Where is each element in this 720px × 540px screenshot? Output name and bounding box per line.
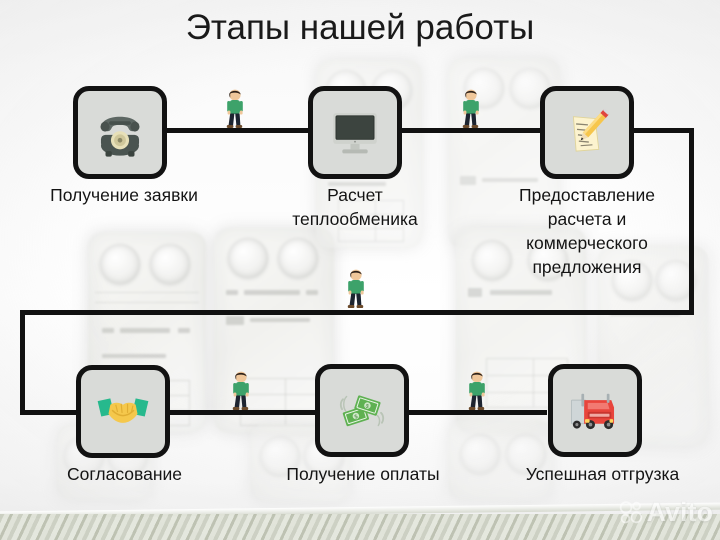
avito-watermark: Avito [619, 499, 714, 526]
stage-label-6: Успешная отгрузка [495, 462, 710, 486]
walking-person-icon [222, 88, 248, 130]
walking-person-icon [228, 370, 254, 412]
truck-icon [566, 382, 624, 440]
stage-label-2: Расчет теплообменика [250, 183, 460, 231]
telephone-icon [91, 104, 149, 162]
page-title: Этапы нашей работы [0, 6, 720, 50]
stage-label-3: Предоставление расчета и коммерческого п… [487, 183, 687, 279]
connector-line-right-vertical [689, 128, 694, 315]
stage-box-3[interactable] [540, 86, 634, 179]
stage-box-5[interactable]: $ $ [315, 364, 409, 457]
connector-line-3-right [628, 128, 694, 133]
diagram-canvas: Этапы нашей работы Получе [0, 0, 720, 540]
walking-person-icon [458, 88, 484, 130]
memo-pencil-icon [558, 104, 616, 162]
walking-person-icon [464, 370, 490, 412]
avito-logo-icon [619, 500, 644, 525]
stage-label-4: Согласование [22, 462, 227, 486]
stage-box-1[interactable] [73, 86, 167, 179]
stage-box-2[interactable] [308, 86, 402, 179]
monitor-icon [326, 104, 384, 162]
stage-box-6[interactable] [548, 364, 642, 457]
connector-line-left-vertical [20, 310, 25, 415]
stage-label-5: Получение оплаты [258, 462, 468, 486]
avito-wordmark: Avito [647, 499, 714, 526]
stage-box-4[interactable] [76, 365, 170, 458]
connector-line-midrow-horizontal [20, 310, 694, 315]
connector-line-left-to-4 [20, 410, 76, 415]
photo-bottom-strip [0, 514, 720, 540]
stage-label-1: Получение заявки [13, 183, 235, 207]
money-icon: $ $ [333, 382, 391, 440]
walking-person-icon [343, 268, 369, 310]
handshake-icon [94, 383, 152, 441]
